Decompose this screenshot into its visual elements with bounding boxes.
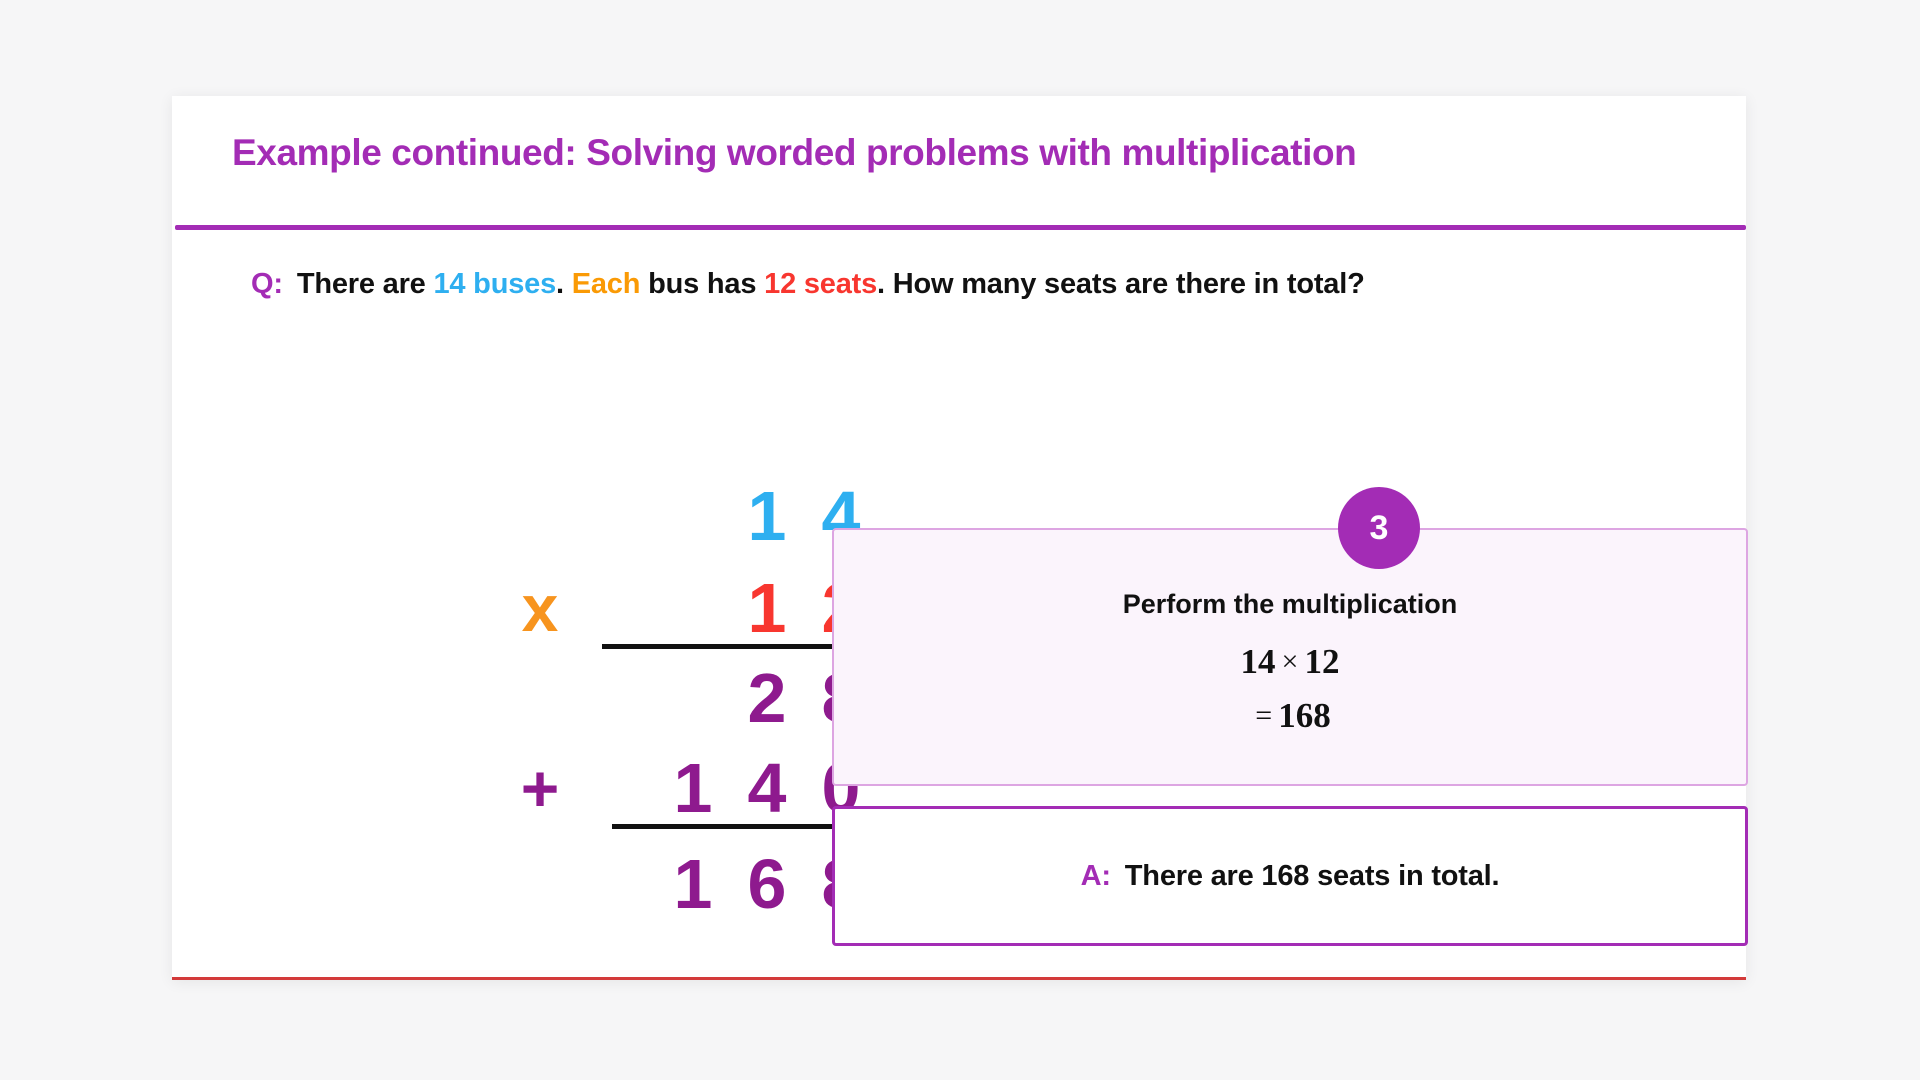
lm-digit: 1 [656, 849, 730, 919]
equals-sign-icon: = [1249, 699, 1278, 732]
question-segment-4: bus has [640, 268, 764, 300]
multiply-sign-icon: × [1276, 645, 1305, 678]
lm-rule-upper [602, 644, 852, 649]
step-heading: Perform the multiplication [832, 589, 1748, 620]
question-segment-6: . How many seats are there in total? [877, 268, 1365, 300]
answer-label: A: [1081, 860, 1111, 892]
plus-operator-icon: + [502, 755, 578, 821]
question-segment-5: 12 seats [764, 268, 877, 300]
question-segment-2: . [556, 268, 572, 300]
title-divider [175, 225, 1746, 230]
math-operand-a: 14 [1241, 642, 1276, 681]
multiply-operator-icon: x [502, 575, 578, 641]
lm-digit: 1 [656, 753, 730, 823]
step-number-badge: 3 [1338, 487, 1420, 569]
answer-box: A:There are 168 seats in total. [832, 806, 1748, 946]
question-label: Q: [251, 268, 283, 300]
lm-digit: 2 [730, 663, 804, 733]
math-result-line: =168 [832, 696, 1748, 736]
math-operand-b: 12 [1304, 642, 1339, 681]
question-segment-3: Each [572, 268, 641, 300]
lm-digit: 1 [730, 573, 804, 643]
lm-digit: 4 [730, 753, 804, 823]
lm-digit: 1 [730, 481, 804, 551]
lm-digit [656, 663, 730, 733]
question-line: Q:There are 14 buses. Each bus has 12 se… [251, 268, 1365, 301]
slide-card: Example continued: Solving worded proble… [172, 96, 1746, 980]
lm-digit [656, 573, 730, 643]
answer-line: A:There are 168 seats in total. [1081, 860, 1500, 893]
math-expression: 14×12 [832, 642, 1748, 682]
question-text: There are 14 buses. Each bus has 12 seat… [297, 268, 1365, 300]
card-bottom-rule [172, 977, 1746, 980]
lm-digit [656, 481, 730, 551]
answer-statement: There are 168 seats in total. [1125, 860, 1500, 892]
lm-digit: 6 [730, 849, 804, 919]
question-segment-1: 14 buses [433, 268, 556, 300]
lm-rule-lower [612, 824, 866, 829]
page-title: Example continued: Solving worded proble… [232, 132, 1692, 174]
math-result-value: 168 [1278, 696, 1331, 735]
question-segment-0: There are [297, 268, 434, 300]
